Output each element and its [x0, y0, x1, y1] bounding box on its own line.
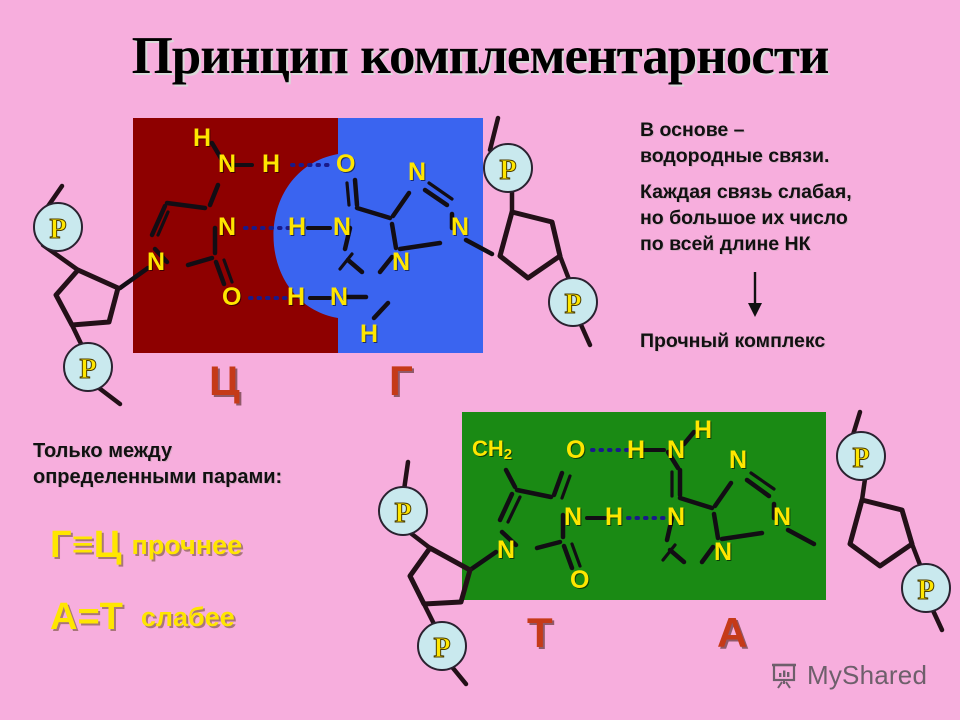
explanation-line: Каждая связь слабая, [640, 180, 950, 206]
explanation-line: по всей длине НК [640, 232, 950, 258]
atom-label: H [360, 322, 378, 347]
pairing-rule-qualifier: слабее [141, 602, 235, 632]
slide-canvas: Принцип комплементарности [0, 0, 960, 720]
atom-label: CH2 [472, 438, 512, 462]
conclusion-text: Прочный комплекс [640, 330, 950, 353]
pairing-rule-formula: Г≡Ц [50, 524, 121, 566]
down-arrow-icon [742, 272, 768, 318]
pairing-rule-line: Только между [33, 438, 393, 464]
atom-label: O [336, 152, 355, 177]
phosphate-icon [418, 622, 466, 670]
phosphate-label: P [499, 155, 516, 186]
atom-label: O [566, 438, 585, 463]
atom-label: N [714, 540, 732, 565]
atom-label: N [729, 448, 747, 473]
page-title: Принцип комплементарности [0, 26, 960, 86]
atom-label: H [627, 438, 645, 463]
atom-label: N [451, 215, 469, 240]
phosphate-label: P [564, 289, 581, 320]
pairing-rule-formula: А=Т [50, 596, 123, 638]
atom-label: O [222, 285, 241, 310]
atom-label: N [773, 505, 791, 530]
pairing-rule-qualifier: прочнее [131, 530, 242, 560]
atom-label: H [193, 126, 211, 151]
watermark-text: MyShared [807, 660, 927, 691]
atom-label: N [564, 505, 582, 530]
base-letter-guanine: Г [389, 360, 413, 402]
atom-label: N [392, 250, 410, 275]
atom-label: H [605, 505, 623, 530]
base-letter-cytosine: Ц [209, 360, 240, 402]
phosphate-label: P [852, 443, 869, 474]
atom-label: N [333, 215, 351, 240]
atom-label: N [667, 505, 685, 530]
atom-label: H [287, 285, 305, 310]
atom-label: N [147, 250, 165, 275]
explanation-text: В основе – водородные связи. Каждая связ… [640, 118, 950, 258]
explanation-line: водородные связи. [640, 144, 950, 170]
phosphate-icon [379, 487, 427, 535]
pairing-rule-heading: Только между определенными парами: [33, 438, 393, 490]
atom-label: N [330, 285, 348, 310]
atom-label: H [288, 215, 306, 240]
atom-label: N [408, 160, 426, 185]
phosphate-label: P [433, 633, 450, 664]
phosphate-label: P [49, 214, 66, 245]
atom-label: N [218, 152, 236, 177]
pairing-rule-strong: Г≡Цпрочнее [50, 524, 242, 567]
base-pair-cg-panel [133, 118, 483, 353]
atom-label: H [694, 418, 712, 443]
atom-label: N [667, 438, 685, 463]
pairing-rule-line: определенными парами: [33, 464, 393, 490]
atom-label: O [570, 568, 589, 593]
phosphate-label: P [79, 354, 96, 385]
phosphate-icon [484, 144, 532, 192]
base-letter-adenine: A [717, 612, 747, 654]
phosphate-icon [34, 203, 82, 251]
pairing-rule-weak: А=Тслабее [50, 596, 235, 639]
atom-label: N [218, 215, 236, 240]
phosphate-icon [549, 278, 597, 326]
atom-label: H [262, 152, 280, 177]
phosphate-icon [837, 432, 885, 480]
explanation-line: В основе – [640, 118, 950, 144]
base-letter-thymine: T [527, 612, 553, 654]
phosphate-icon [902, 564, 950, 612]
atom-label: N [497, 538, 515, 563]
watermark: MyShared [770, 660, 927, 691]
phosphate-label: P [917, 575, 934, 606]
phosphate-icon [64, 343, 112, 391]
presentation-board-icon [770, 661, 800, 691]
phosphate-label: P [394, 498, 411, 529]
explanation-line: но большое их число [640, 206, 950, 232]
